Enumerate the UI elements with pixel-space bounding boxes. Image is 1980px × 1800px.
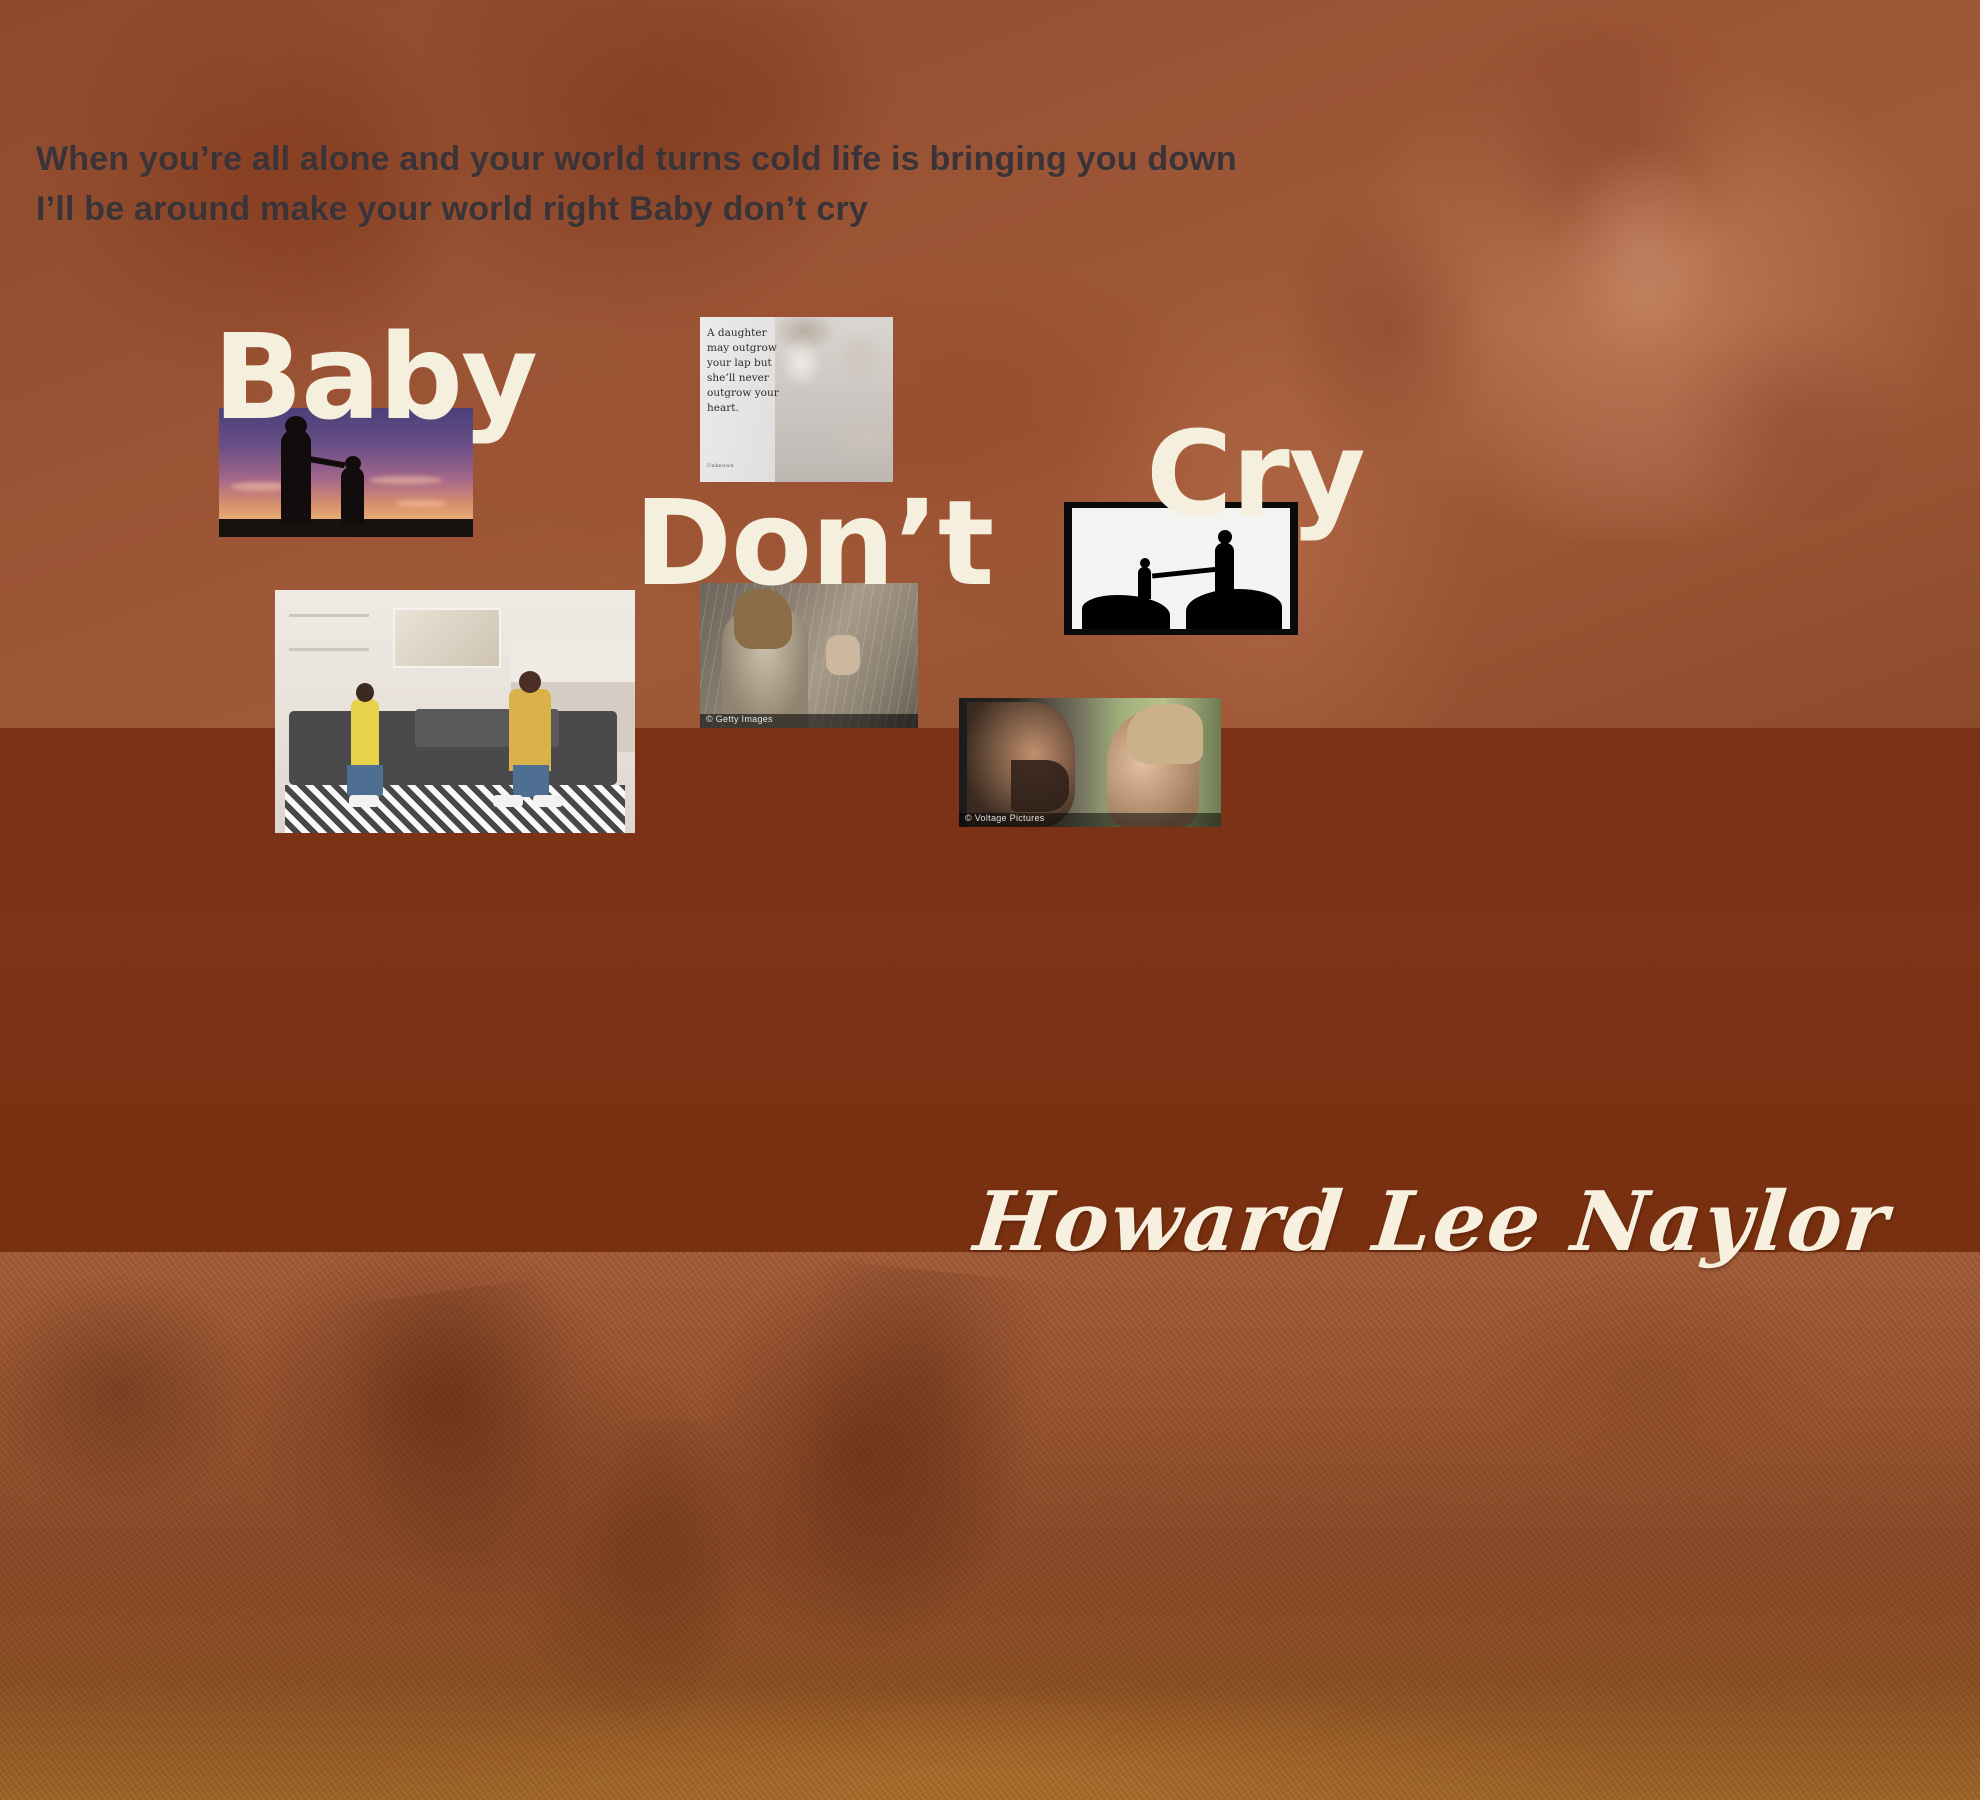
man-shoe-right	[533, 795, 563, 807]
seated-man	[509, 689, 551, 771]
poster-canvas: When you’re all alone and your world tur…	[0, 0, 1980, 1800]
voltage-pictures-watermark: © Voltage Pictures	[965, 813, 1045, 823]
lyric-line-2: I’ll be around make your world right Bab…	[36, 184, 1896, 234]
ghost-adult-left	[328, 1276, 602, 1635]
quote-card-text: A daughter may outgrow your lap but she’…	[707, 326, 785, 416]
cliff-rock-left	[1082, 595, 1170, 629]
photo-living-room-couch	[275, 590, 635, 833]
child-on-cliff	[1138, 567, 1151, 599]
ghost-adult-right	[771, 1258, 1058, 1652]
girl-shoe	[349, 795, 379, 807]
wall-art	[393, 608, 501, 668]
seated-girl	[351, 699, 379, 771]
cliff-rock-right	[1186, 589, 1282, 629]
quote-card-attribution: Unknown	[707, 463, 734, 469]
title-word-baby: Baby	[213, 318, 536, 436]
ghost-child-face-image	[1430, 20, 1850, 540]
patterned-rug	[285, 785, 625, 833]
girl-hand-on-glass	[826, 635, 860, 675]
daughter-silhouette	[341, 467, 364, 525]
photo-daughter-quote-card: A daughter may outgrow your lap but she’…	[700, 317, 893, 482]
title-word-dont: Don’t	[634, 484, 993, 602]
man-jeans	[513, 765, 549, 797]
reaching-arm	[1152, 566, 1220, 578]
title-word-cry: Cry	[1146, 415, 1365, 533]
artist-signature: Howard Lee Naylor	[970, 1174, 1894, 1270]
man-shoe-left	[493, 795, 523, 807]
ghost-child-center	[600, 1420, 750, 1700]
lyric-text-block: When you’re all alone and your world tur…	[36, 134, 1896, 234]
photo-father-daughter-closeup: © Voltage Pictures	[959, 698, 1221, 827]
getty-watermark: © Getty Images	[706, 714, 773, 724]
grandfather-and-girl-photo	[775, 317, 893, 482]
cloud-2	[369, 476, 443, 484]
father-beard	[1011, 760, 1069, 812]
adult-on-cliff	[1215, 543, 1234, 593]
lyric-line-1: When you’re all alone and your world tur…	[36, 134, 1896, 184]
wall-shelf-upper	[289, 614, 369, 617]
daughter-hair	[1127, 704, 1203, 764]
wall-shelf-lower	[289, 648, 369, 651]
girl-jeans	[347, 765, 383, 797]
cloud-3	[395, 500, 447, 507]
